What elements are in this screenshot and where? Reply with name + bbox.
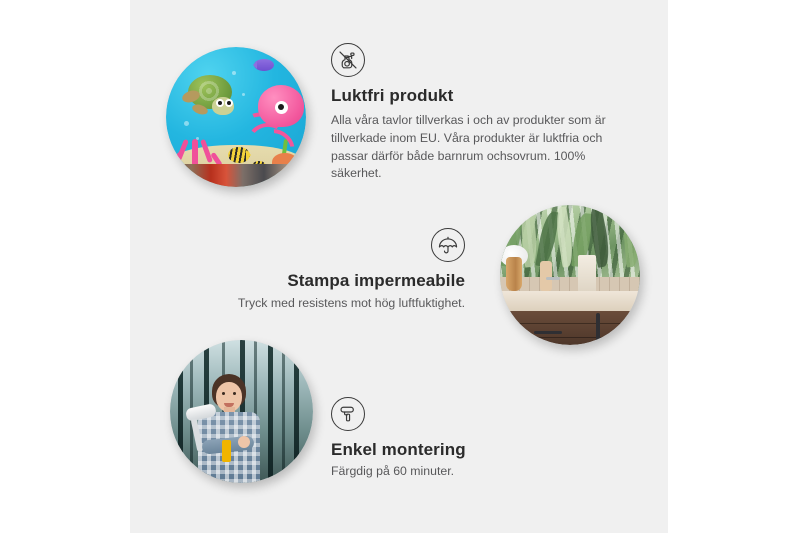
- turtle-icon: [182, 75, 240, 115]
- feature-odour-free: Luktfri produkt Alla våra tavlor tillver…: [331, 43, 631, 183]
- feature-title: Enkel montering: [331, 440, 611, 460]
- infographic-canvas: Luktfri produkt Alla våra tavlor tillver…: [0, 0, 800, 533]
- tree-icon: [268, 340, 273, 483]
- feature-title: Stampa impermeabile: [195, 271, 465, 291]
- fish-icon: [254, 59, 274, 71]
- feature-easy-mounting: Enkel montering Färgdig på 60 minuter.: [331, 397, 611, 481]
- woman-with-paint-roller-forest-photo: [170, 340, 313, 483]
- soap-dispenser-icon: [540, 261, 552, 291]
- coral-icon: [174, 129, 228, 169]
- wooden-vanity: [500, 311, 640, 345]
- feature-title: Luktfri produkt: [331, 86, 631, 106]
- paint-tool-icon: [222, 440, 231, 462]
- bubble-icon: [184, 121, 189, 126]
- room-foreground-strip: [166, 164, 306, 187]
- fish-icon: [228, 147, 250, 163]
- vase-icon: [506, 257, 522, 291]
- feature-description: Alla våra tavlor tillverkas i och av pro…: [331, 112, 631, 182]
- tree-icon: [294, 340, 299, 483]
- underwater-kids-mural-photo: [166, 47, 306, 187]
- tree-icon: [178, 340, 183, 483]
- bathroom-leaf-wallpaper-photo: [500, 205, 640, 345]
- feature-description: Färgdig på 60 minuter.: [331, 463, 611, 481]
- tree-icon: [282, 340, 285, 483]
- faucet-icon: [546, 277, 560, 280]
- stone-countertop: [500, 291, 640, 311]
- no-odour-spray-bottle-icon: [331, 43, 365, 77]
- octopus-icon: [246, 85, 304, 147]
- paint-roller-icon: [331, 397, 365, 431]
- umbrella-icon: [431, 228, 465, 262]
- bubble-icon: [242, 93, 245, 96]
- feature-waterproof: Stampa impermeabile Tryck med resistens …: [195, 228, 465, 313]
- towel-icon: [578, 255, 596, 295]
- woman-icon: [192, 374, 266, 483]
- feature-description: Tryck med resistens mot hög luftfuktighe…: [195, 295, 465, 313]
